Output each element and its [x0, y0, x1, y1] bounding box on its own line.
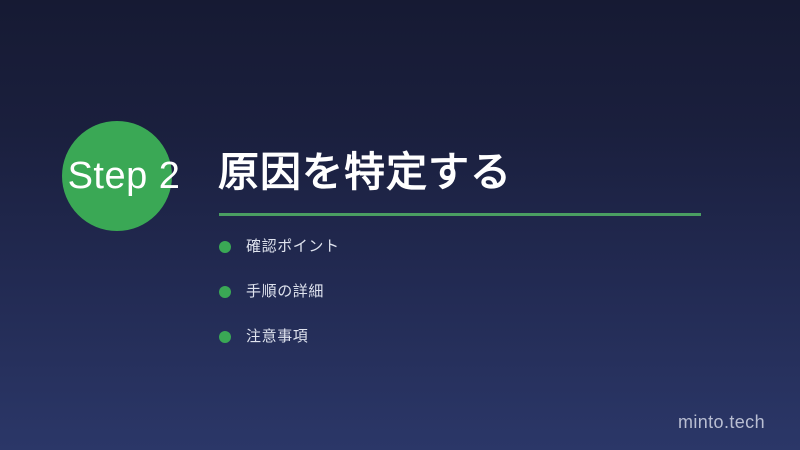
list-item: 手順の詳細 [219, 281, 679, 326]
slide-title: 原因を特定する [218, 146, 512, 198]
bullet-dot-icon [219, 241, 231, 253]
watermark-brand: minto.tech [678, 412, 765, 433]
list-item: 確認ポイント [219, 236, 679, 281]
list-item-label: 手順の詳細 [246, 281, 324, 303]
bullet-dot-icon [219, 286, 231, 298]
list-item-label: 確認ポイント [246, 236, 340, 258]
list-item: 注意事項 [219, 326, 679, 371]
list-item-label: 注意事項 [246, 326, 308, 348]
step-badge-label: Step 2 [44, 154, 204, 198]
bullet-list: 確認ポイント 手順の詳細 注意事項 [219, 236, 679, 371]
bullet-dot-icon [219, 331, 231, 343]
title-divider [219, 213, 701, 216]
slide-canvas: Step 2 原因を特定する 確認ポイント 手順の詳細 注意事項 minto.t… [0, 0, 800, 450]
